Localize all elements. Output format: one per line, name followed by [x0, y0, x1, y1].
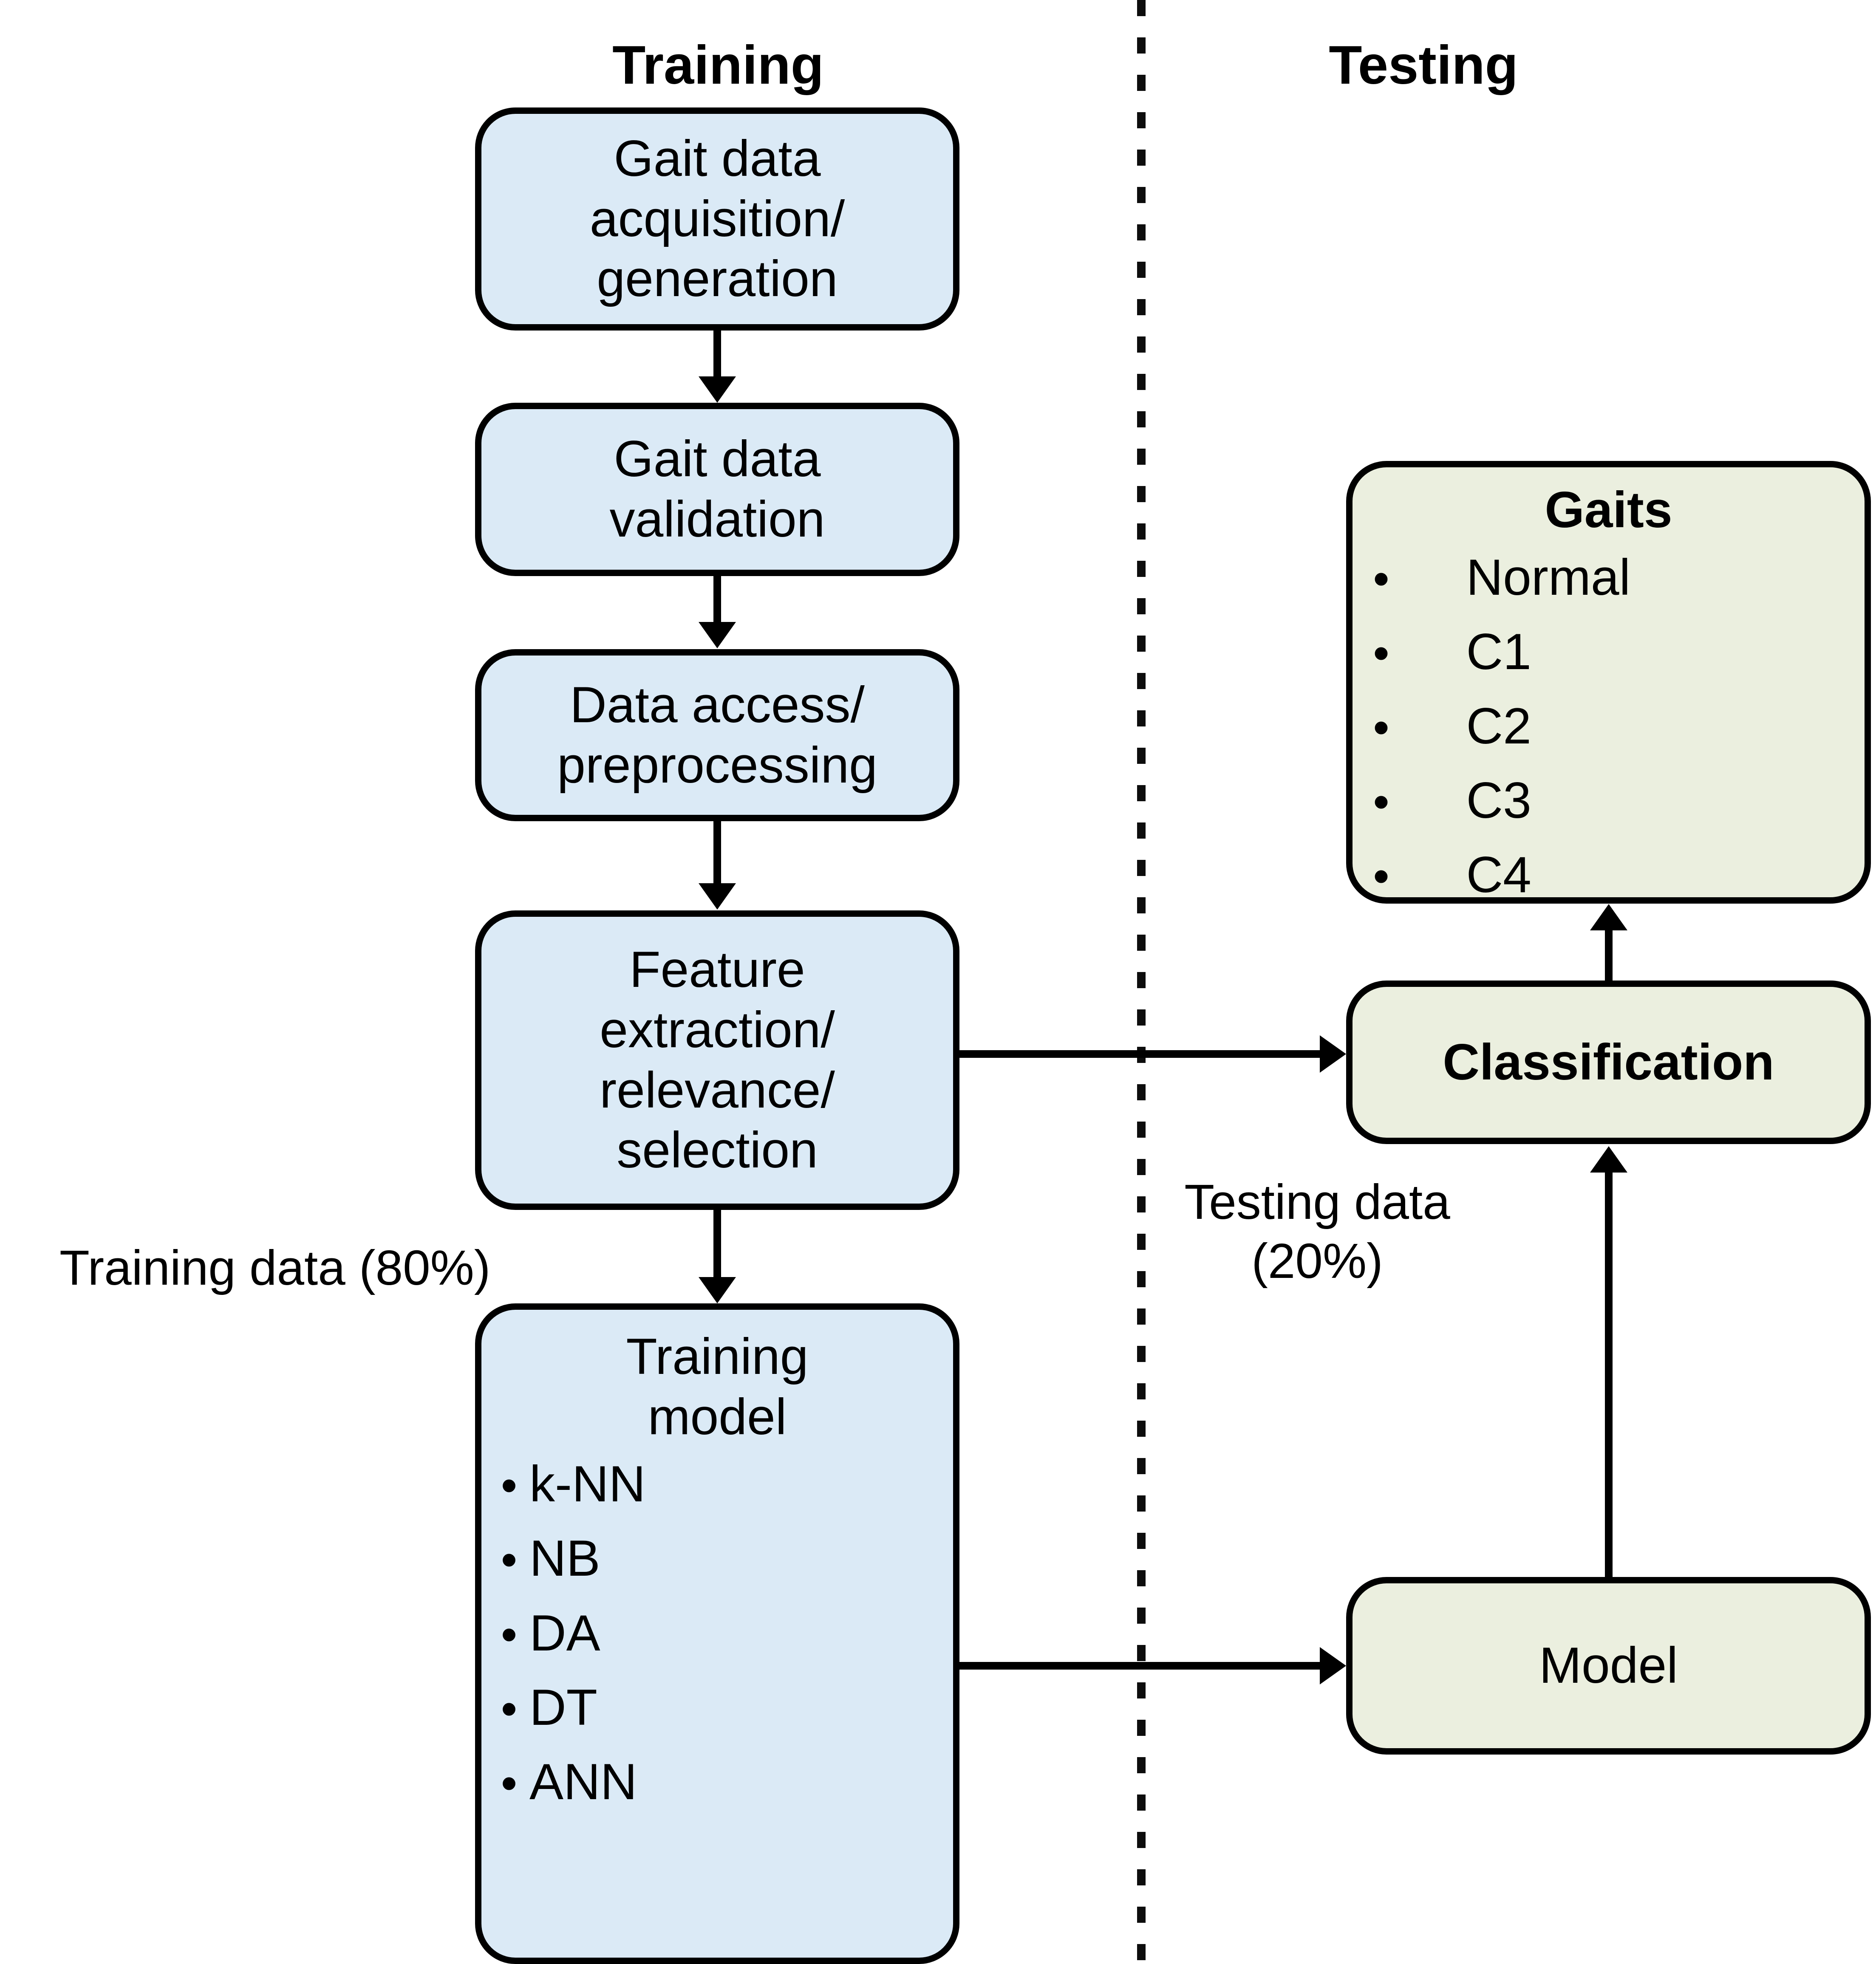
label-testing-data-line1: Testing data — [1164, 1173, 1470, 1232]
node-line: validation — [481, 489, 953, 550]
bullet-icon: • — [1369, 619, 1394, 688]
node-training-model[interactable]: Training model • k-NN • NB • DA • DT • A… — [475, 1303, 959, 1964]
node-line: Data access/ — [481, 675, 953, 735]
list-item-label: k-NN — [522, 1447, 645, 1521]
node-line: selection — [481, 1120, 953, 1181]
list-item-label: DT — [522, 1670, 597, 1745]
bullet-icon: • — [496, 1452, 522, 1520]
flowchart-canvas: Training Testing Gait data acquisition/ … — [0, 0, 1876, 1964]
node-line: generation — [481, 249, 953, 309]
node-line: Gait data — [481, 429, 953, 489]
list-item: • C3 — [1369, 763, 1871, 838]
node-line: relevance/ — [481, 1060, 953, 1121]
bullet-icon: • — [1369, 545, 1394, 613]
list-item-label: Normal — [1394, 540, 1631, 615]
list-item-label: DA — [522, 1596, 600, 1670]
list-item-label: C1 — [1394, 615, 1531, 689]
list-item: • k-NN — [496, 1447, 959, 1521]
node-model[interactable]: Model — [1346, 1577, 1871, 1755]
bullet-icon: • — [496, 1749, 522, 1818]
arrowhead-feature-to-training-model — [699, 1277, 736, 1303]
bullet-icon: • — [1369, 842, 1394, 904]
list-item: • C1 — [1369, 615, 1871, 689]
list-item: • C4 — [1369, 838, 1871, 904]
node-feature-extraction[interactable]: Feature extraction/ relevance/ selection — [475, 910, 959, 1210]
node-line: preprocessing — [481, 735, 953, 796]
arrowhead-acquisition-to-validation — [699, 376, 736, 403]
node-gaits[interactable]: Gaits • Normal • C1 • C2 • C3 • C4 — [1346, 461, 1871, 904]
column-title-training: Training — [476, 38, 960, 93]
training-model-algorithm-list: • k-NN • NB • DA • DT • ANN — [475, 1447, 959, 1819]
list-item: • NB — [496, 1521, 959, 1596]
node-classification[interactable]: Classification — [1346, 981, 1871, 1144]
node-line: model — [481, 1387, 953, 1447]
list-item: • ANN — [496, 1745, 959, 1819]
connector-model-to-classification — [1605, 1173, 1613, 1578]
arrowhead-feature-to-classification — [1320, 1035, 1346, 1073]
column-title-testing: Testing — [1181, 38, 1666, 93]
model-label: Model — [1353, 1636, 1865, 1696]
connector-training-model-to-model — [959, 1662, 1321, 1670]
connector-acquisition-to-validation — [713, 331, 721, 377]
label-training-data-split: Training data (80%) — [59, 1238, 490, 1297]
bullet-icon: • — [1369, 694, 1394, 762]
arrowhead-model-to-classification — [1590, 1146, 1627, 1173]
list-item-label: C3 — [1394, 763, 1531, 838]
arrowhead-training-model-to-model — [1320, 1647, 1346, 1684]
arrowhead-validation-to-preprocessing — [699, 622, 736, 648]
label-testing-data-split: Testing data (20%) — [1164, 1173, 1470, 1291]
bullet-icon: • — [1369, 768, 1394, 836]
label-testing-data-line2: (20%) — [1164, 1232, 1470, 1291]
bullet-icon: • — [496, 1526, 522, 1594]
connector-feature-to-training-model — [713, 1210, 721, 1278]
list-item: • DT — [496, 1670, 959, 1745]
list-item: • Normal — [1369, 540, 1871, 615]
node-gait-data-acquisition[interactable]: Gait data acquisition/ generation — [475, 107, 959, 331]
node-line: acquisition/ — [481, 189, 953, 249]
list-item: • DA — [496, 1596, 959, 1670]
gaits-list: • Normal • C1 • C2 • C3 • C4 — [1346, 540, 1871, 904]
bullet-icon: • — [496, 1675, 522, 1744]
node-line: Training — [481, 1327, 953, 1387]
list-item-label: NB — [522, 1521, 600, 1596]
list-item-label: ANN — [522, 1745, 637, 1819]
node-line: extraction/ — [481, 1000, 953, 1060]
node-line: Gait data — [481, 129, 953, 189]
connector-classification-to-gaits — [1605, 930, 1613, 982]
connector-validation-to-preprocessing — [713, 576, 721, 623]
connector-feature-to-classification — [959, 1050, 1321, 1058]
arrowhead-preprocessing-to-feature — [699, 883, 736, 910]
node-gait-data-validation[interactable]: Gait data validation — [475, 403, 959, 576]
arrowhead-classification-to-gaits — [1590, 904, 1627, 930]
connector-preprocessing-to-feature — [713, 821, 721, 884]
list-item-label: C2 — [1394, 689, 1531, 763]
node-data-access-preprocessing[interactable]: Data access/ preprocessing — [475, 649, 959, 821]
node-line: Feature — [481, 940, 953, 1000]
bullet-icon: • — [496, 1601, 522, 1669]
list-item: • C2 — [1369, 689, 1871, 763]
classification-label: Classification — [1353, 1032, 1865, 1093]
gaits-heading: Gaits — [1353, 480, 1865, 540]
list-item-label: C4 — [1394, 838, 1531, 904]
